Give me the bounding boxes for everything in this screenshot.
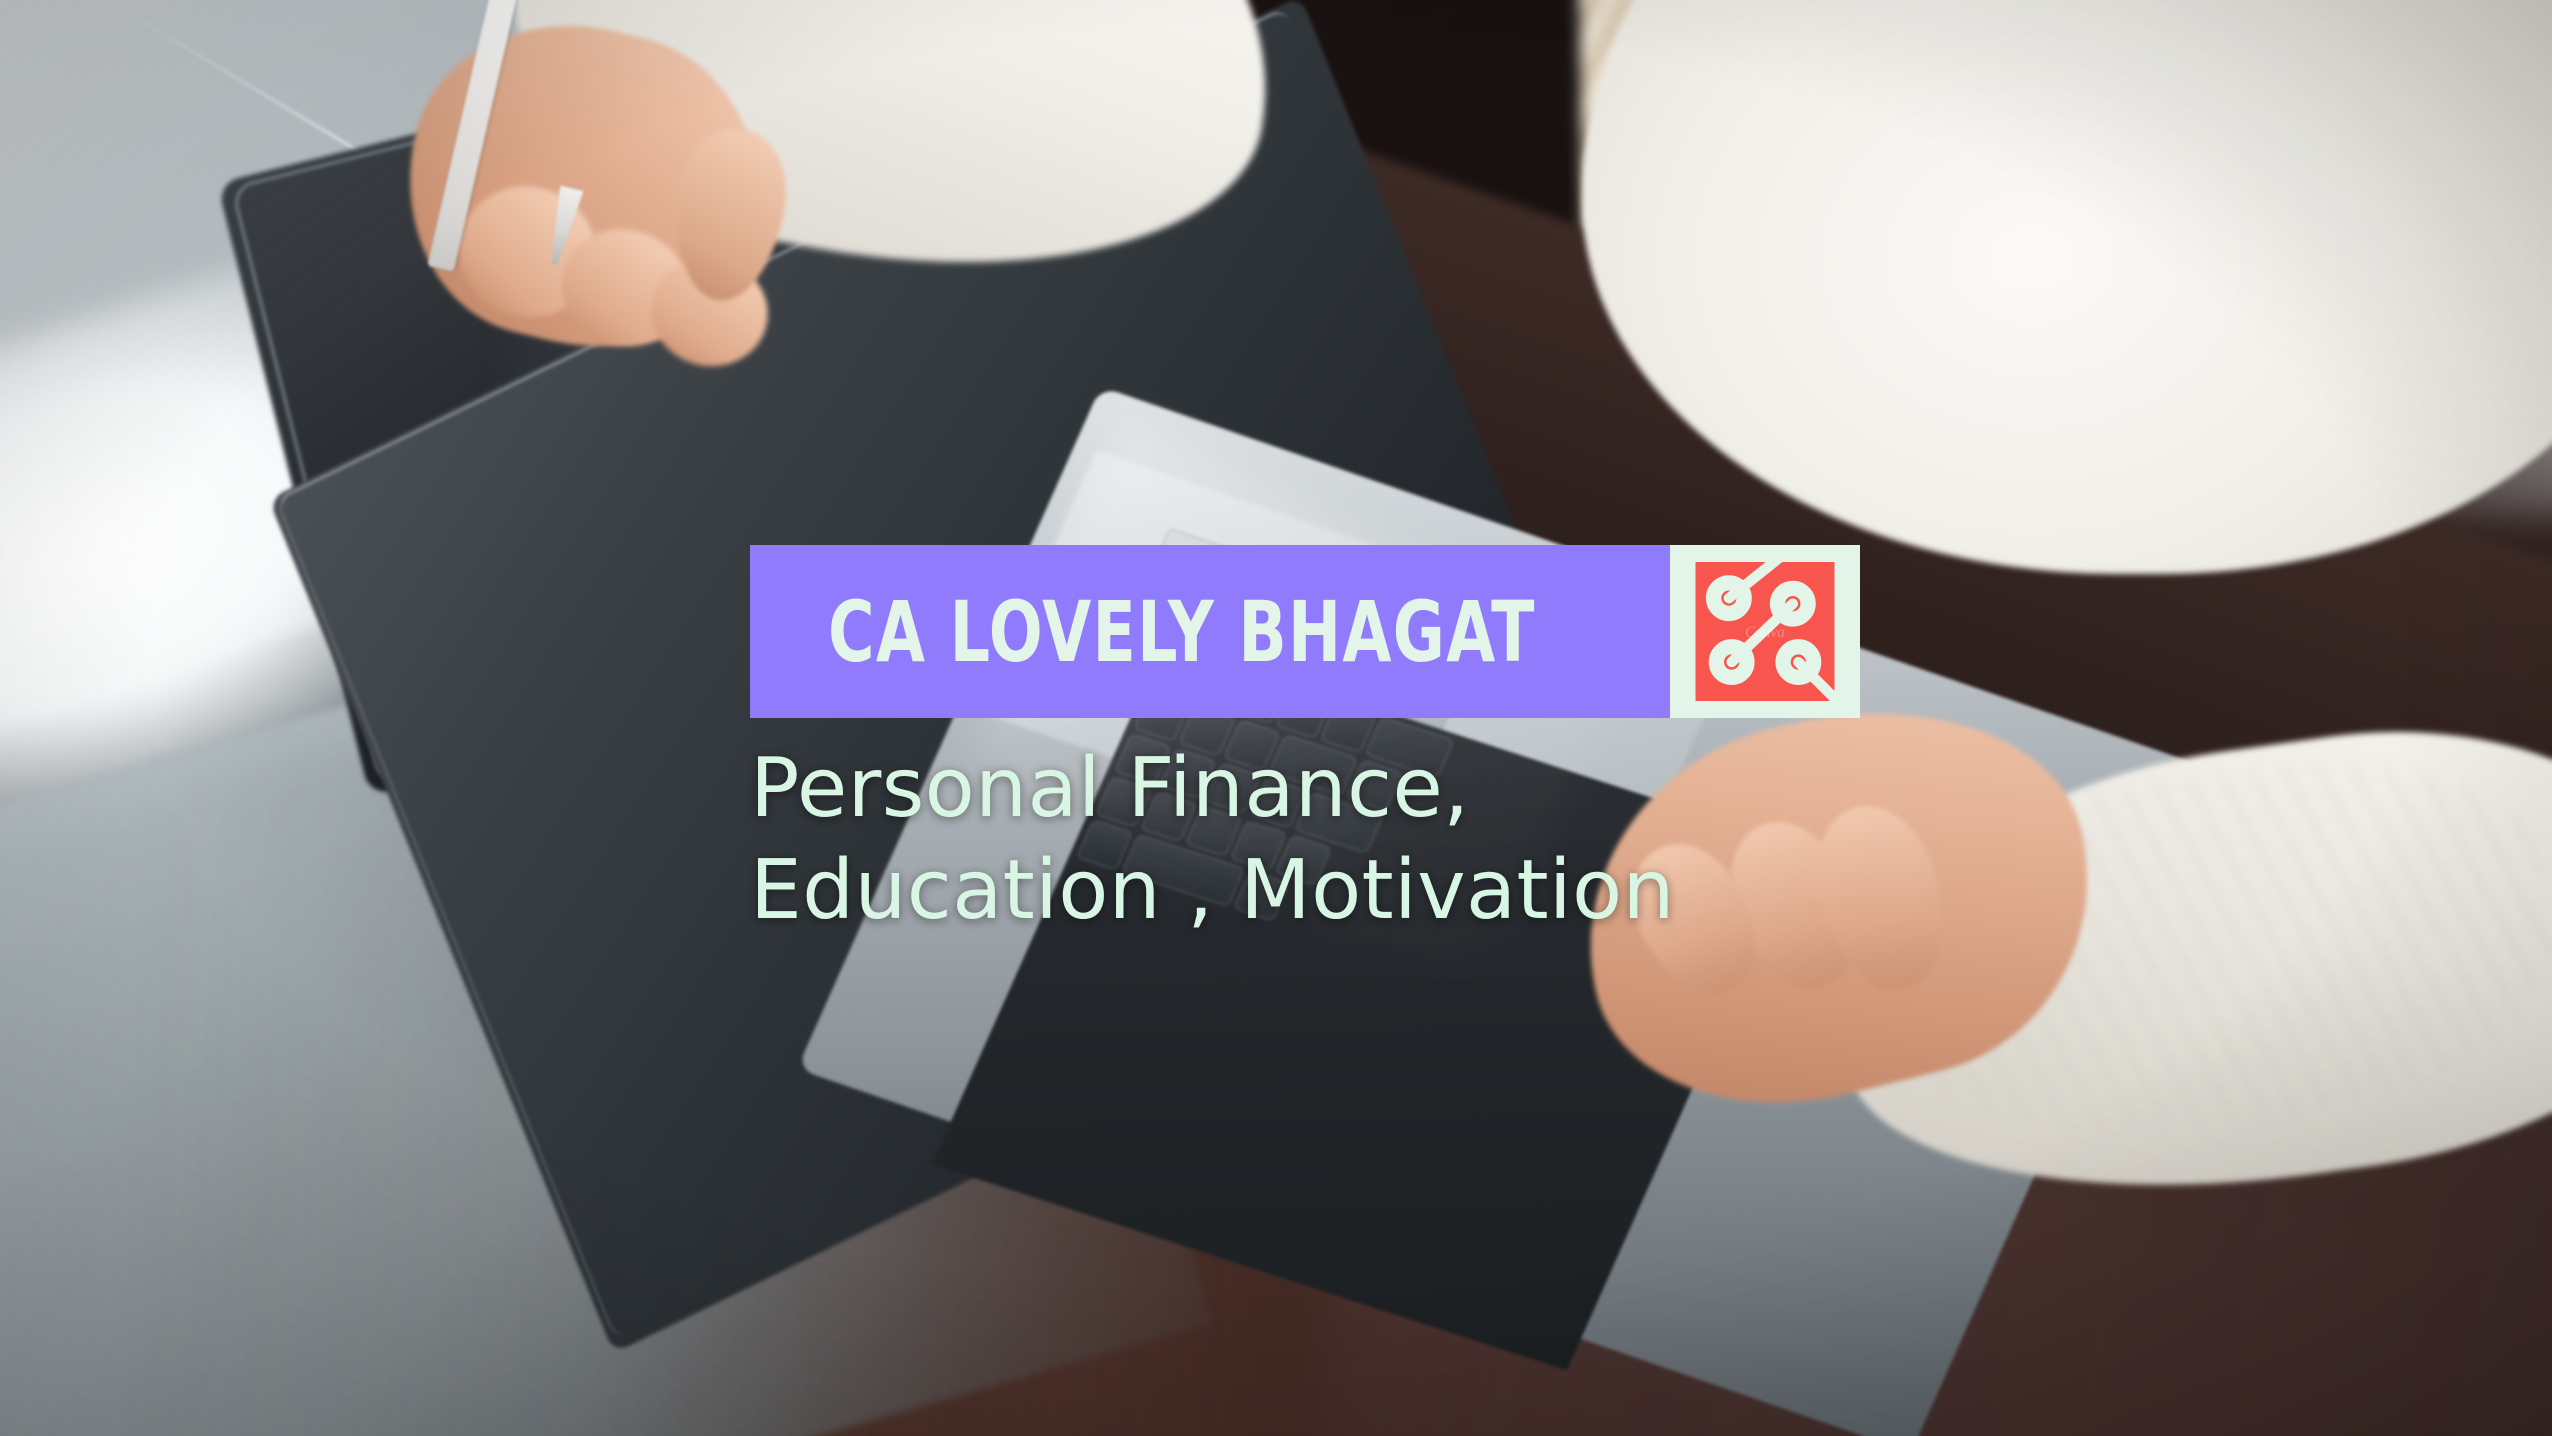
banner-canvas: CA LOVELY BHAGAT Can	[0, 0, 2552, 1436]
logo-watermark: Canva	[1745, 624, 1785, 641]
banner-subtitle: Personal Finance, Education , Motivation	[750, 738, 1860, 941]
network-nodes-icon: Canva	[1687, 562, 1843, 701]
brand-title-bar: CA LOVELY BHAGAT	[750, 545, 1670, 718]
brand-logo: Canva	[1670, 545, 1860, 718]
title-row: CA LOVELY BHAGAT Can	[750, 545, 1860, 718]
brand-title: CA LOVELY BHAGAT	[828, 590, 1536, 674]
banner-overlay: CA LOVELY BHAGAT Can	[750, 545, 1860, 941]
